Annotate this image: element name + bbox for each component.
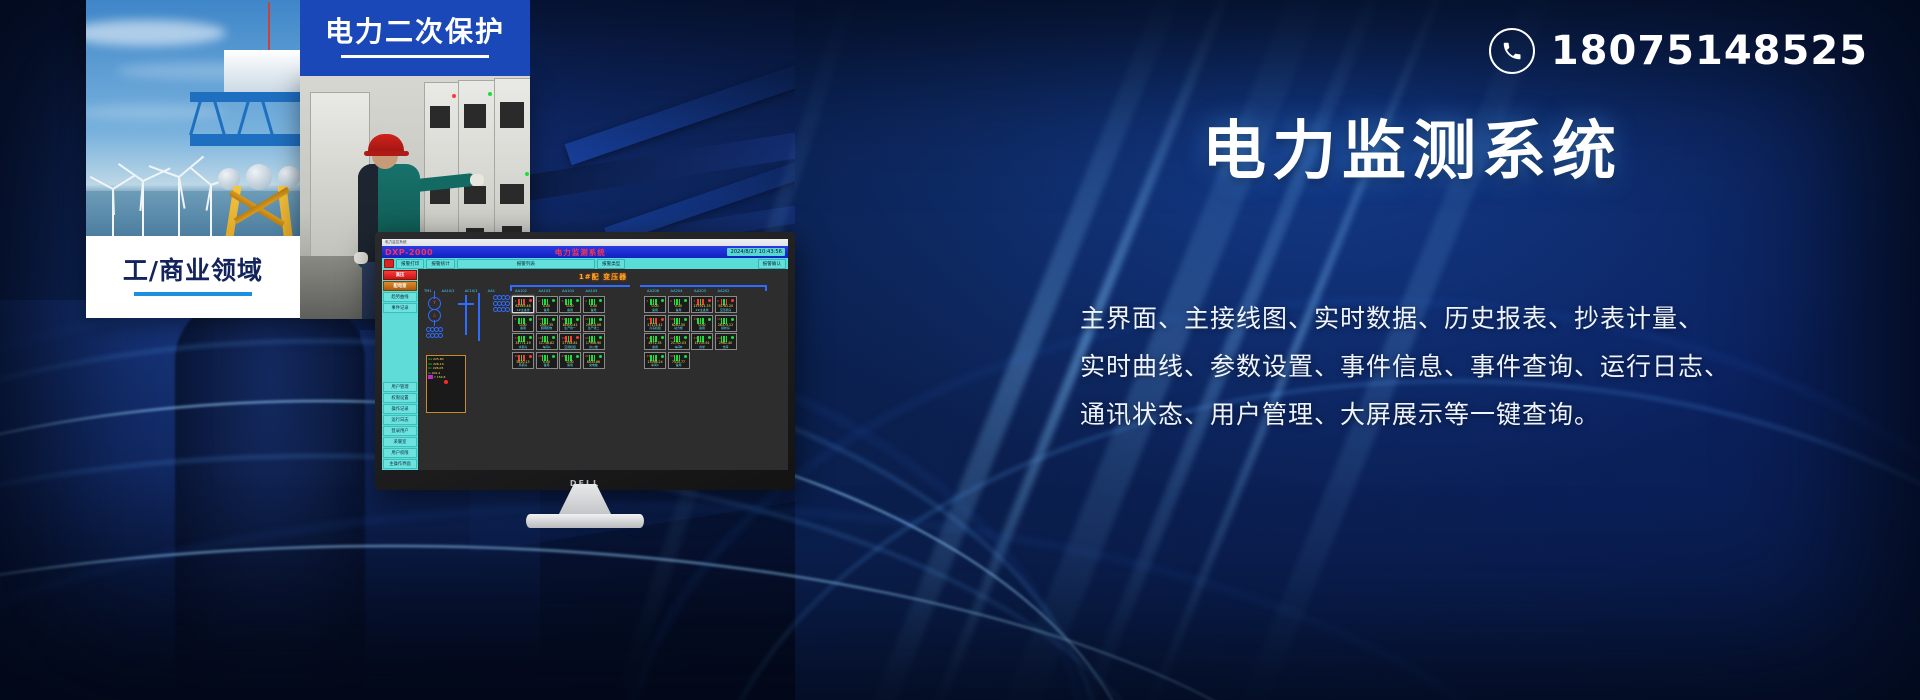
label-underline bbox=[341, 55, 489, 58]
breaker-status-dot bbox=[661, 355, 664, 358]
feeder-tag-9: AA204 bbox=[670, 289, 684, 293]
breaker-cell[interactable]: 90.00备用 bbox=[512, 315, 534, 332]
contact-phone[interactable]: 18075148525 bbox=[1489, 28, 1868, 74]
info-value-1: 226.10 bbox=[433, 362, 444, 366]
breaker-status-dot bbox=[529, 336, 532, 339]
breaker-status-dot bbox=[731, 299, 734, 302]
breaker-cell-name: 空压机房 bbox=[716, 308, 736, 312]
breaker-cell-index: 8 bbox=[717, 299, 719, 303]
breaker-cell[interactable]: 1327174.41冷冻机组 bbox=[644, 315, 666, 332]
breaker-cell[interactable]: 242962.40仓库 bbox=[715, 333, 737, 350]
breaker-cell[interactable]: 20.00备用 bbox=[536, 296, 558, 313]
toolbar-button-2[interactable]: 报警列表 bbox=[457, 259, 595, 269]
breaker-cell-grid-right[interactable]: 50.00备用60.00备用7137921.352#主进线834761.20空压… bbox=[644, 296, 737, 369]
breaker-cell[interactable]: 30.00备用 bbox=[559, 296, 581, 313]
info-key-2: Uc bbox=[428, 366, 432, 370]
monitor-stand-base bbox=[526, 514, 644, 528]
info-key-4: P bbox=[434, 375, 436, 379]
breaker-cell[interactable]: 146281.50动力柜 bbox=[668, 315, 690, 332]
breaker-cell[interactable]: 7137921.352#主进线 bbox=[691, 296, 713, 313]
breaker-cell[interactable]: 214972.35备用 bbox=[644, 333, 666, 350]
breaker-cell[interactable]: 50.00备用 bbox=[644, 296, 666, 313]
sidebar-item-user-permission[interactable]: 用户权限 bbox=[383, 448, 417, 458]
label-underline bbox=[134, 292, 252, 296]
breaker-cell[interactable]: 288035.66充电桩 bbox=[583, 352, 605, 369]
breaker-cell-name: 备用 bbox=[537, 363, 557, 367]
breaker-status-dot bbox=[576, 336, 579, 339]
sidebar-item-distribution-room[interactable]: 配电室 bbox=[383, 281, 417, 291]
scada-header: DXP-2000 电力监测系统 2024/8/27 10:43:56 bbox=[382, 246, 788, 258]
sidebar-item-event-record[interactable]: 事件记录 bbox=[383, 303, 417, 313]
toolbar-button-0[interactable]: 报警打印 bbox=[396, 259, 424, 269]
magenta-indicator bbox=[428, 375, 433, 379]
breaker-cell-name: 照明配电 bbox=[537, 326, 557, 330]
sidebar-item-permission-settings[interactable]: 权限设置 bbox=[383, 393, 417, 403]
breaker-status-dot bbox=[599, 299, 602, 302]
breaker-cell-name: 生产线二 bbox=[584, 326, 604, 330]
page-title: 电力监测系统 bbox=[1202, 100, 1622, 192]
breaker-cell-name: 风机房 bbox=[513, 363, 533, 367]
breaker-cell[interactable]: 1734771.19水泵房 bbox=[512, 333, 534, 350]
breaker-cell[interactable]: 40.00备用 bbox=[583, 296, 605, 313]
breaker-cell-name: 空调机组 bbox=[560, 345, 580, 349]
breaker-cell[interactable]: 60.00备用 bbox=[668, 296, 690, 313]
scada-sidebar[interactable]: 高压 配电室 趋势曲线 事件记录 用户管理 权限设置 操作记录 运行日志 登录用… bbox=[382, 269, 418, 470]
breaker-cell-name: 备用 bbox=[560, 363, 580, 367]
label-secondary-protection-text: 电力二次保护 bbox=[325, 18, 505, 46]
breaker-cell[interactable]: 2017906.90办公楼 bbox=[583, 333, 605, 350]
info-value-3: 401.2 bbox=[432, 371, 441, 375]
info-key-0: Ua bbox=[428, 357, 432, 361]
toolbar-button-1[interactable]: 报警统计 bbox=[426, 259, 454, 269]
breaker-cell-name: 1#主进线 bbox=[513, 308, 533, 312]
breaker-cell-index: 6 bbox=[670, 299, 672, 303]
window-titlebar: 电力监控系统 bbox=[382, 239, 788, 246]
feeder-tag-1: AA10/1 bbox=[442, 289, 455, 293]
breaker-cell-index: 2 bbox=[538, 299, 540, 303]
breaker-cell[interactable]: 1626374.12锅炉房 bbox=[715, 315, 737, 332]
breaker-status-dot bbox=[552, 299, 555, 302]
alarm-indicator bbox=[444, 380, 448, 384]
breaker-status-dot bbox=[552, 336, 555, 339]
breaker-cell-name: 备用 bbox=[692, 326, 712, 330]
breaker-cell[interactable]: 2315705.91食堂 bbox=[691, 333, 713, 350]
breaker-cell-name: 备用 bbox=[669, 363, 689, 367]
breaker-status-dot bbox=[599, 318, 602, 321]
info-key-3: Ia bbox=[428, 371, 431, 375]
breaker-status-dot bbox=[708, 318, 711, 321]
breaker-cell-name: 水泵房 bbox=[513, 345, 533, 349]
scada-clock: 2024/8/27 10:43:56 bbox=[727, 248, 785, 256]
feeder-tag-3: AA1 bbox=[488, 289, 495, 293]
breaker-cell-name: 车间C bbox=[645, 363, 665, 367]
breaker-cell-index: 9 bbox=[515, 317, 517, 321]
breaker-cell-name: 办公楼 bbox=[584, 345, 604, 349]
breaker-cell[interactable]: 2221752.03车间B bbox=[668, 333, 690, 350]
breaker-status-dot bbox=[708, 336, 711, 339]
hero-description-line-0: 主界面、主接线图、实时数据、历史报表、抄表计量、 bbox=[1080, 295, 1860, 343]
feeder-tag-7: AA105 bbox=[585, 289, 599, 293]
breaker-cell-name: 生产线一 bbox=[560, 326, 580, 330]
phone-number-text: 18075148525 bbox=[1551, 28, 1868, 74]
breaker-cell-name: 备用 bbox=[537, 308, 557, 312]
breaker-cell[interactable]: 270.00备用 bbox=[559, 352, 581, 369]
breaker-status-dot bbox=[708, 299, 711, 302]
scada-toolbar[interactable]: 报警打印 报警统计 报警列表 报警类型 报警确认 bbox=[382, 258, 788, 269]
feeder-tag-11: AA202 bbox=[717, 289, 731, 293]
sidebar-item-login-user[interactable]: 登录用户 bbox=[383, 426, 417, 436]
sidebar-item-user-management[interactable]: 用户管理 bbox=[383, 382, 417, 392]
breaker-cell-name: 充电桩 bbox=[584, 363, 604, 367]
scada-system-name: 电力监测系统 bbox=[555, 247, 606, 258]
breaker-cell-name: 食堂 bbox=[692, 345, 712, 349]
breaker-cell[interactable]: 1229914.06生产线二 bbox=[583, 315, 605, 332]
scada-body: 高压 配电室 趋势曲线 事件记录 用户管理 权限设置 操作记录 运行日志 登录用… bbox=[382, 269, 788, 470]
diagram-title: 1#配 变压器 bbox=[579, 272, 627, 282]
info-value-0: 225.80 bbox=[433, 357, 444, 361]
breaker-cell-index: 1 bbox=[515, 299, 517, 303]
breaker-cell[interactable]: 1927764.81空调机组 bbox=[559, 333, 581, 350]
breaker-cell[interactable]: 255820.13风机房 bbox=[512, 352, 534, 369]
breaker-cell-name: 备用 bbox=[584, 308, 604, 312]
breaker-status-dot bbox=[661, 318, 664, 321]
sidebar-item-trend-curve[interactable]: 趋势曲线 bbox=[383, 292, 417, 302]
hero-description-line-1: 实时曲线、参数设置、事件信息、事件查询、运行日志、 bbox=[1080, 343, 1860, 391]
breaker-status-dot bbox=[576, 318, 579, 321]
breaker-cell-name: 备用 bbox=[560, 308, 580, 312]
feeder-tag-0: TM1 bbox=[424, 289, 432, 293]
breaker-cell[interactable]: 834761.20空压机房 bbox=[715, 296, 737, 313]
breaker-status-dot bbox=[684, 299, 687, 302]
breaker-cell-name: 仓库 bbox=[716, 345, 736, 349]
breaker-cell-name: 动力柜 bbox=[669, 326, 689, 330]
feeder-tag-2: AC10/1 bbox=[465, 289, 478, 293]
label-secondary-protection: 电力二次保护 bbox=[300, 0, 530, 76]
breaker-cell[interactable]: 1118500.41生产线一 bbox=[559, 315, 581, 332]
breaker-cell-name: 备用 bbox=[645, 308, 665, 312]
toolbar-button-3[interactable]: 报警类型 bbox=[597, 259, 625, 269]
measurement-info-panel: Ua225.80 Ub226.10 Uc226.05 Ia401.2 P152.… bbox=[426, 355, 466, 413]
sidebar-item-main-operation[interactable]: 主操作界面 bbox=[383, 459, 417, 469]
sidebar-item-run-log[interactable]: 运行日志 bbox=[383, 415, 417, 425]
label-industrial-commercial: 工/商业领域 bbox=[86, 236, 300, 318]
breaker-cell-name: 冷冻机组 bbox=[645, 326, 665, 330]
feeder-tag-6: AA104 bbox=[561, 289, 575, 293]
info-value-4: 152.6 bbox=[437, 375, 446, 379]
breaker-status-dot bbox=[731, 318, 734, 321]
breaker-status-dot bbox=[576, 355, 579, 358]
feeder-tag-8: AA206 bbox=[646, 289, 660, 293]
scada-diagram-area: 1#配 变压器 Y △ Ua225.80 bbox=[418, 269, 788, 470]
breaker-status-dot bbox=[576, 299, 579, 302]
breaker-cell[interactable]: 2913098.24车间C bbox=[644, 352, 666, 369]
breaker-status-dot bbox=[661, 336, 664, 339]
toolbar-button-4[interactable]: 报警确认 bbox=[758, 259, 786, 269]
sidebar-item-operation-record[interactable]: 操作记录 bbox=[383, 404, 417, 414]
info-key-1: Ub bbox=[428, 362, 432, 366]
breaker-cell-grid-left[interactable]: 162945.481#主进线20.00备用30.00备用40.00备用90.00… bbox=[512, 296, 605, 369]
hero-description-line-2: 通讯状态、用户管理、大屏展示等一键查询。 bbox=[1080, 391, 1860, 439]
breaker-cell-index: 3 bbox=[562, 299, 564, 303]
breaker-cell[interactable]: 1811736.82车间A bbox=[536, 333, 558, 350]
breaker-status-dot bbox=[661, 299, 664, 302]
breaker-cell-index: 4 bbox=[585, 299, 587, 303]
breaker-status-dot bbox=[599, 336, 602, 339]
breaker-cell-name: 锅炉房 bbox=[716, 326, 736, 330]
scada-logo: DXP-2000 bbox=[385, 248, 433, 257]
breaker-cell-index: 7 bbox=[694, 299, 696, 303]
breaker-status-dot bbox=[599, 355, 602, 358]
feeder-tag-10: AA203 bbox=[693, 289, 707, 293]
feeder-tag-5: AA103 bbox=[538, 289, 552, 293]
hero-description: 主界面、主接线图、实时数据、历史报表、抄表计量、 实时曲线、参数设置、事件信息、… bbox=[1080, 295, 1860, 439]
breaker-status-dot bbox=[552, 318, 555, 321]
breaker-status-dot bbox=[731, 336, 734, 339]
breaker-cell[interactable]: 260.00备用 bbox=[536, 352, 558, 369]
window-title-text: 电力监控系统 bbox=[385, 240, 407, 245]
breaker-status-dot bbox=[684, 336, 687, 339]
breaker-cell-name: 2#主进线 bbox=[692, 308, 712, 312]
phone-icon bbox=[1489, 28, 1535, 74]
breaker-status-dot bbox=[529, 355, 532, 358]
feeder-tag-4: AA102 bbox=[514, 289, 528, 293]
breaker-cell-name: 备用 bbox=[645, 345, 665, 349]
breaker-cell-name: 车间A bbox=[537, 345, 557, 349]
info-value-2: 226.05 bbox=[433, 366, 444, 370]
promo-banner: 电力二次保护 工/商业领域 DELL 电力监控系统 DXP-2000 电力监测系… bbox=[0, 0, 1920, 700]
breaker-cell[interactable]: 307410.77备用 bbox=[668, 352, 690, 369]
breaker-status-dot bbox=[529, 299, 532, 302]
breaker-cell-name: 车间B bbox=[669, 345, 689, 349]
breaker-cell-name: 备用 bbox=[669, 308, 689, 312]
alarm-stop-button[interactable] bbox=[384, 259, 394, 268]
dell-monitor: DELL 电力监控系统 DXP-2000 电力监测系统 2024/8/27 10… bbox=[375, 232, 795, 490]
breaker-cell[interactable]: 150.00备用 bbox=[691, 315, 713, 332]
breaker-cell-name: 备用 bbox=[513, 326, 533, 330]
breaker-cell[interactable]: 162945.481#主进线 bbox=[512, 296, 534, 313]
breaker-cell[interactable]: 102907.35照明配电 bbox=[536, 315, 558, 332]
monitor-screen: 电力监控系统 DXP-2000 电力监测系统 2024/8/27 10:43:5… bbox=[382, 239, 788, 470]
sidebar-item-heating-room[interactable]: 采暖室 bbox=[383, 437, 417, 447]
breaker-cell-index: 5 bbox=[647, 299, 649, 303]
breaker-status-dot bbox=[684, 355, 687, 358]
breaker-status-dot bbox=[529, 318, 532, 321]
label-industrial-commercial-text: 工/商业领域 bbox=[123, 258, 263, 283]
sidebar-item-high-voltage[interactable]: 高压 bbox=[383, 270, 417, 280]
breaker-status-dot bbox=[552, 355, 555, 358]
floor-shadow bbox=[0, 470, 795, 700]
breaker-status-dot bbox=[684, 318, 687, 321]
